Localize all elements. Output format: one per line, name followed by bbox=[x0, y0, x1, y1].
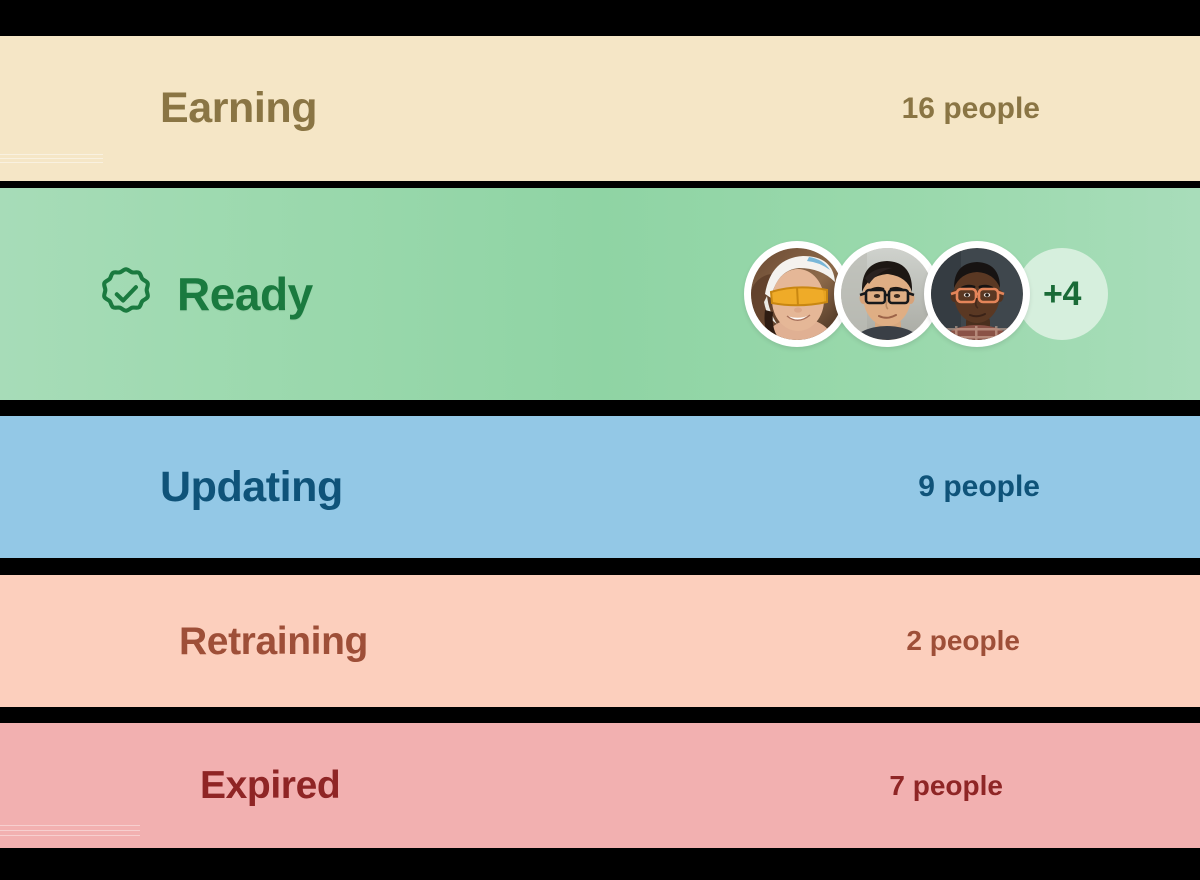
status-label-earning: Earning bbox=[160, 87, 317, 130]
avatar[interactable] bbox=[924, 241, 1030, 347]
row-seam-line bbox=[0, 825, 140, 826]
row-label-group: Expired bbox=[200, 766, 340, 805]
status-label-ready: Ready bbox=[177, 271, 313, 317]
row-seam-line bbox=[0, 835, 140, 836]
avatar-stack[interactable]: +4 bbox=[744, 241, 1108, 347]
status-label-expired: Expired bbox=[200, 766, 340, 805]
avatar-image bbox=[751, 248, 843, 340]
row-seam-line bbox=[0, 162, 103, 163]
status-row-expired[interactable]: Expired 7 people bbox=[0, 723, 1200, 848]
avatar-image bbox=[841, 248, 933, 340]
status-row-earning[interactable]: Earning 16 people bbox=[0, 36, 1200, 181]
people-count-expired: 7 people bbox=[889, 772, 1003, 800]
row-seam-line bbox=[0, 830, 140, 831]
status-row-updating[interactable]: Updating 9 people bbox=[0, 416, 1200, 558]
row-label-group: Ready bbox=[97, 265, 313, 323]
row-label-group: Retraining bbox=[179, 622, 368, 661]
status-row-retraining[interactable]: Retraining 2 people bbox=[0, 575, 1200, 707]
status-label-updating: Updating bbox=[160, 466, 343, 509]
people-count-retraining: 2 people bbox=[906, 627, 1020, 655]
row-label-group: Updating bbox=[160, 466, 343, 509]
status-row-ready[interactable]: Ready bbox=[0, 188, 1200, 400]
people-count-earning: 16 people bbox=[902, 94, 1040, 124]
status-label-retraining: Retraining bbox=[179, 622, 368, 661]
row-seam-line bbox=[0, 154, 103, 155]
row-label-group: Earning bbox=[160, 87, 317, 130]
avatar-image bbox=[931, 248, 1023, 340]
people-count-updating: 9 people bbox=[918, 472, 1040, 502]
verified-badge-icon bbox=[97, 265, 155, 323]
status-board: Earning 16 people Ready bbox=[0, 0, 1200, 880]
row-seam-line bbox=[0, 158, 103, 159]
